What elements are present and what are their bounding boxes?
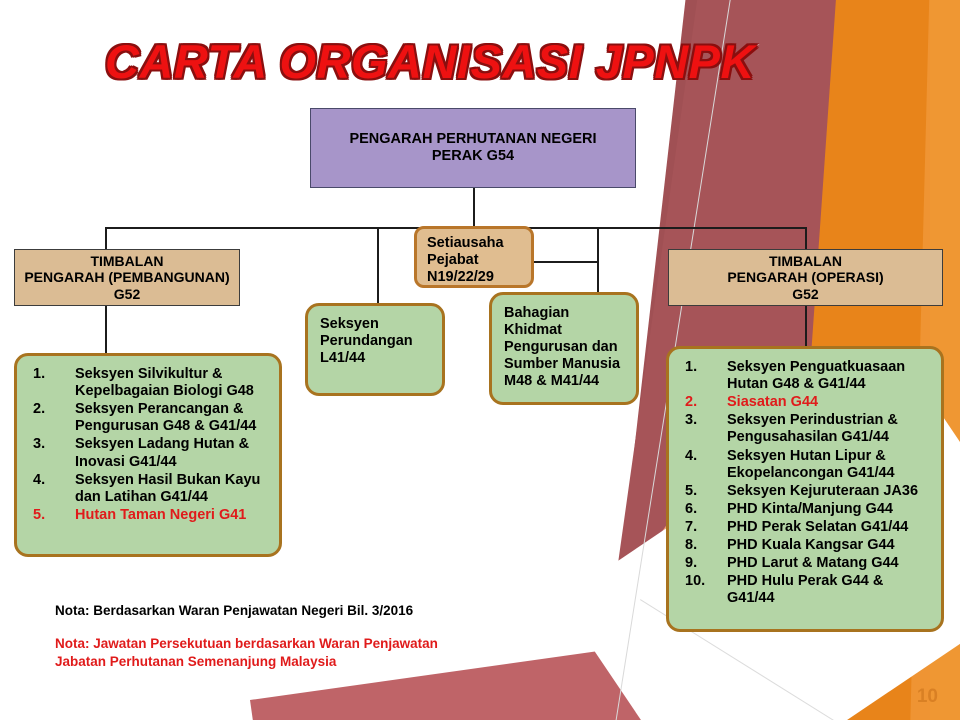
operation-section-item: 9.PHD Larut & Matang G44	[681, 555, 931, 572]
connector-hr-division	[597, 227, 599, 295]
hr-line4: Sumber Manusia	[504, 356, 626, 373]
connector-director-down	[473, 188, 475, 228]
operation-section-item: 1.Seksyen Penguatkuasaan Hutan G48 & G41…	[681, 359, 931, 393]
development-section-item: 4.Seksyen Hasil Bukan Kayu dan Latihan G…	[29, 472, 269, 506]
secretary-line1: Setiausaha	[427, 235, 523, 252]
slide-canvas: CARTA ORGANISASI JPNPK PENGARAH PERHUTAN…	[0, 0, 960, 720]
development-section-item: 3.Seksyen Ladang Hutan & Inovasi G41/44	[29, 436, 269, 470]
operation-section-item-label: PHD Larut & Matang G44	[727, 555, 899, 571]
hr-line5: M48 & M41/44	[504, 373, 626, 390]
development-section-list: 1.Seksyen Silvikultur & Kepelbagaian Bio…	[29, 366, 269, 524]
legal-line2: Perundangan	[320, 333, 432, 350]
operation-section-item-number: 3.	[685, 412, 719, 429]
node-operation-sections[interactable]: 1.Seksyen Penguatkuasaan Hutan G48 & G41…	[666, 346, 944, 632]
deputy-left-line1: TIMBALAN	[24, 253, 229, 270]
connector-legal-section	[377, 227, 379, 312]
operation-section-item: 8.PHD Kuala Kangsar G44	[681, 537, 931, 554]
connector-right-deputy	[805, 227, 807, 250]
operation-section-item: 10.PHD Hulu Perak G44 & G41/44	[681, 573, 931, 607]
deputy-right-line3: G52	[727, 286, 883, 303]
node-hr-division[interactable]: Bahagian Khidmat Pengurusan dan Sumber M…	[489, 292, 639, 405]
node-legal-section[interactable]: Seksyen Perundangan L41/44	[305, 303, 445, 396]
operation-section-item-label: Seksyen Kejuruteraan JA36	[727, 483, 918, 499]
operation-section-item-label: PHD Kinta/Manjung G44	[727, 501, 893, 517]
operation-section-item-number: 10.	[685, 573, 719, 590]
development-section-item: 5.Hutan Taman Negeri G41	[29, 507, 269, 524]
deputy-right-line1: TIMBALAN	[727, 253, 883, 270]
development-section-item-number: 3.	[33, 436, 67, 453]
development-section-item-number: 4.	[33, 472, 67, 489]
operation-section-item-number: 9.	[685, 555, 719, 572]
operation-section-item-label: PHD Perak Selatan G41/44	[727, 519, 908, 535]
deputy-right-line2: PENGARAH (OPERASI)	[727, 269, 883, 286]
node-development-sections[interactable]: 1.Seksyen Silvikultur & Kepelbagaian Bio…	[14, 353, 282, 557]
operation-section-item-label: Seksyen Penguatkuasaan Hutan G48 & G41/4…	[727, 359, 905, 392]
node-deputy-operation[interactable]: TIMBALAN PENGARAH (OPERASI) G52	[668, 249, 943, 306]
deputy-left-line2: PENGARAH (PEMBANGUNAN)	[24, 269, 229, 286]
development-section-item-label: Hutan Taman Negeri G41	[75, 507, 246, 523]
development-section-item-label: Seksyen Ladang Hutan & Inovasi G41/44	[75, 436, 249, 469]
operation-section-item-number: 2.	[685, 394, 719, 411]
note-federal-warrant: Nota: Jawatan Persekutuan berdasarkan Wa…	[55, 635, 495, 670]
legal-line3: L41/44	[320, 350, 432, 367]
node-director[interactable]: PENGARAH PERHUTANAN NEGERI PERAK G54	[310, 108, 636, 188]
operation-section-item-number: 4.	[685, 448, 719, 465]
operation-section-item-number: 7.	[685, 519, 719, 536]
development-section-item-number: 1.	[33, 366, 67, 383]
operation-section-item-number: 6.	[685, 501, 719, 518]
operation-section-item-number: 8.	[685, 537, 719, 554]
connector-secretary	[533, 261, 597, 263]
connector-development-list	[105, 305, 107, 355]
operation-section-item-number: 5.	[685, 483, 719, 500]
secretary-line2: Pejabat	[427, 252, 523, 269]
connector-left-deputy	[105, 227, 107, 250]
node-deputy-development[interactable]: TIMBALAN PENGARAH (PEMBANGUNAN) G52	[14, 249, 240, 306]
connector-operation-list	[805, 305, 807, 348]
note-state-warrant: Nota: Berdasarkan Waran Penjawatan Neger…	[55, 602, 485, 620]
hr-line1: Bahagian	[504, 305, 626, 322]
hr-line2: Khidmat	[504, 322, 626, 339]
operation-section-item-label: PHD Hulu Perak G44 & G41/44	[727, 573, 883, 606]
page-number: 10	[917, 686, 938, 708]
operation-section-item: 6.PHD Kinta/Manjung G44	[681, 501, 931, 518]
operation-section-item-number: 1.	[685, 359, 719, 376]
operation-section-item: 5.Seksyen Kejuruteraan JA36	[681, 483, 931, 500]
operation-section-item: 2.Siasatan G44	[681, 394, 931, 411]
development-section-item-label: Seksyen Hasil Bukan Kayu dan Latihan G41…	[75, 472, 260, 505]
operation-section-item: 4.Seksyen Hutan Lipur & Ekopelancongan G…	[681, 448, 931, 482]
operation-section-item-label: PHD Kuala Kangsar G44	[727, 537, 895, 553]
secretary-line3: N19/22/29	[427, 269, 523, 286]
operation-section-list: 1.Seksyen Penguatkuasaan Hutan G48 & G41…	[681, 359, 931, 608]
node-secretary[interactable]: Setiausaha Pejabat N19/22/29	[414, 226, 534, 288]
operation-section-item: 7.PHD Perak Selatan G41/44	[681, 519, 931, 536]
development-section-item-label: Seksyen Perancangan & Pengurusan G48 & G…	[75, 401, 256, 434]
operation-section-item-label: Seksyen Hutan Lipur & Ekopelancongan G41…	[727, 448, 895, 481]
development-section-item-number: 2.	[33, 401, 67, 418]
director-line1: PENGARAH PERHUTANAN NEGERI	[349, 131, 596, 148]
director-line2: PERAK G54	[349, 148, 596, 165]
development-section-item-label: Seksyen Silvikultur & Kepelbagaian Biolo…	[75, 366, 254, 399]
deputy-left-line3: G52	[24, 286, 229, 303]
operation-section-item-label: Siasatan G44	[727, 394, 818, 410]
slide-title: CARTA ORGANISASI JPNPK	[0, 34, 860, 89]
development-section-item-number: 5.	[33, 507, 67, 524]
development-section-item: 2.Seksyen Perancangan & Pengurusan G48 &…	[29, 401, 269, 435]
development-section-item: 1.Seksyen Silvikultur & Kepelbagaian Bio…	[29, 366, 269, 400]
hr-line3: Pengurusan dan	[504, 339, 626, 356]
operation-section-item: 3.Seksyen Perindustrian & Pengusahasilan…	[681, 412, 931, 446]
legal-line1: Seksyen	[320, 316, 432, 333]
operation-section-item-label: Seksyen Perindustrian & Pengusahasilan G…	[727, 412, 898, 445]
